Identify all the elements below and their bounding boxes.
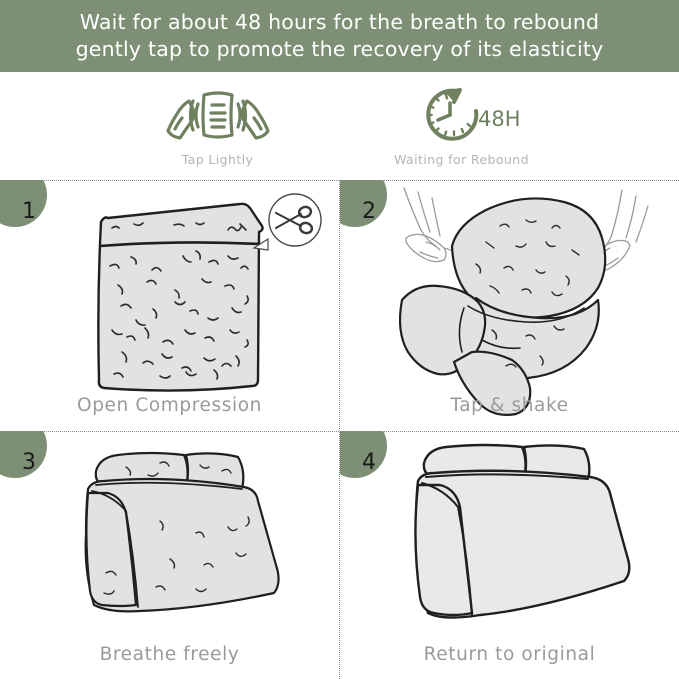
summary-icon-row: Tap Lightly (0, 72, 679, 180)
step-number-1: 1 (22, 201, 36, 223)
step-number-2: 2 (362, 201, 376, 223)
clock-48h-icon: 48H (404, 86, 520, 144)
tap-hands-icon (162, 86, 274, 144)
scissors-callout-circle (269, 194, 321, 246)
partially-lofted-cushion-illustration (0, 431, 339, 679)
step-caption-1: Open Compression (0, 395, 339, 416)
header-banner: Wait for about 48 hours for the breath t… (0, 0, 679, 72)
step-cell-4: 4 Return to original (340, 431, 679, 679)
infographic-page: Wait for about 48 hours for the breath t… (0, 0, 679, 679)
step-number-4: 4 (362, 452, 376, 474)
step-cell-1: 1 Open Compression (0, 180, 339, 430)
header-line-2: gently tap to promote the recovery of it… (76, 36, 604, 63)
compressed-bag-with-scissors-illustration (0, 180, 339, 430)
steps-grid: 1 Open Compression (0, 180, 679, 679)
summary-item-waiting-rebound: 48H Waiting for Rebound (340, 72, 584, 167)
step-number-3: 3 (22, 452, 36, 474)
clock-badge-text: 48H (478, 107, 520, 131)
step-caption-4: Return to original (340, 644, 679, 665)
hands-tapping-cushion-illustration (340, 180, 679, 430)
step-cell-3: 3 Breathe freely (0, 431, 339, 679)
summary-item-tap-lightly: Tap Lightly (96, 72, 340, 167)
fully-restored-cushion-illustration (340, 431, 679, 679)
step-caption-3: Breathe freely (0, 644, 339, 665)
summary-label-waiting-rebound: Waiting for Rebound (394, 152, 529, 167)
step-caption-2: Tap & shake (340, 395, 679, 416)
header-line-1: Wait for about 48 hours for the breath t… (80, 9, 600, 36)
summary-label-tap-lightly: Tap Lightly (182, 152, 254, 167)
step-cell-2: 2 Tap & shake (340, 180, 679, 430)
